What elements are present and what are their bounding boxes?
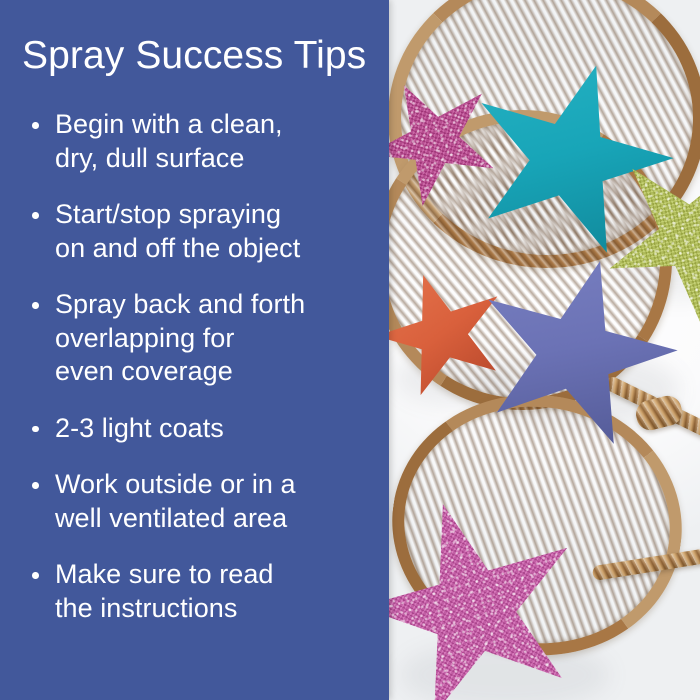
list-item: Spray back and forth overlapping for eve…	[22, 288, 374, 389]
tips-list: Begin with a clean, dry, dull surface St…	[22, 108, 374, 648]
list-item: Start/stop spraying on and off the objec…	[22, 198, 374, 265]
list-item: Make sure to read the instructions	[22, 558, 374, 625]
tips-panel: Spray Success Tips Begin with a clean, d…	[0, 0, 389, 700]
page-title: Spray Success Tips	[22, 33, 382, 79]
list-item: Begin with a clean, dry, dull surface	[22, 108, 374, 175]
infographic-canvas: Spray Success Tips Begin with a clean, d…	[0, 0, 700, 700]
list-item: Work outside or in a well ventilated are…	[22, 468, 374, 535]
list-item: 2-3 light coats	[22, 412, 374, 446]
